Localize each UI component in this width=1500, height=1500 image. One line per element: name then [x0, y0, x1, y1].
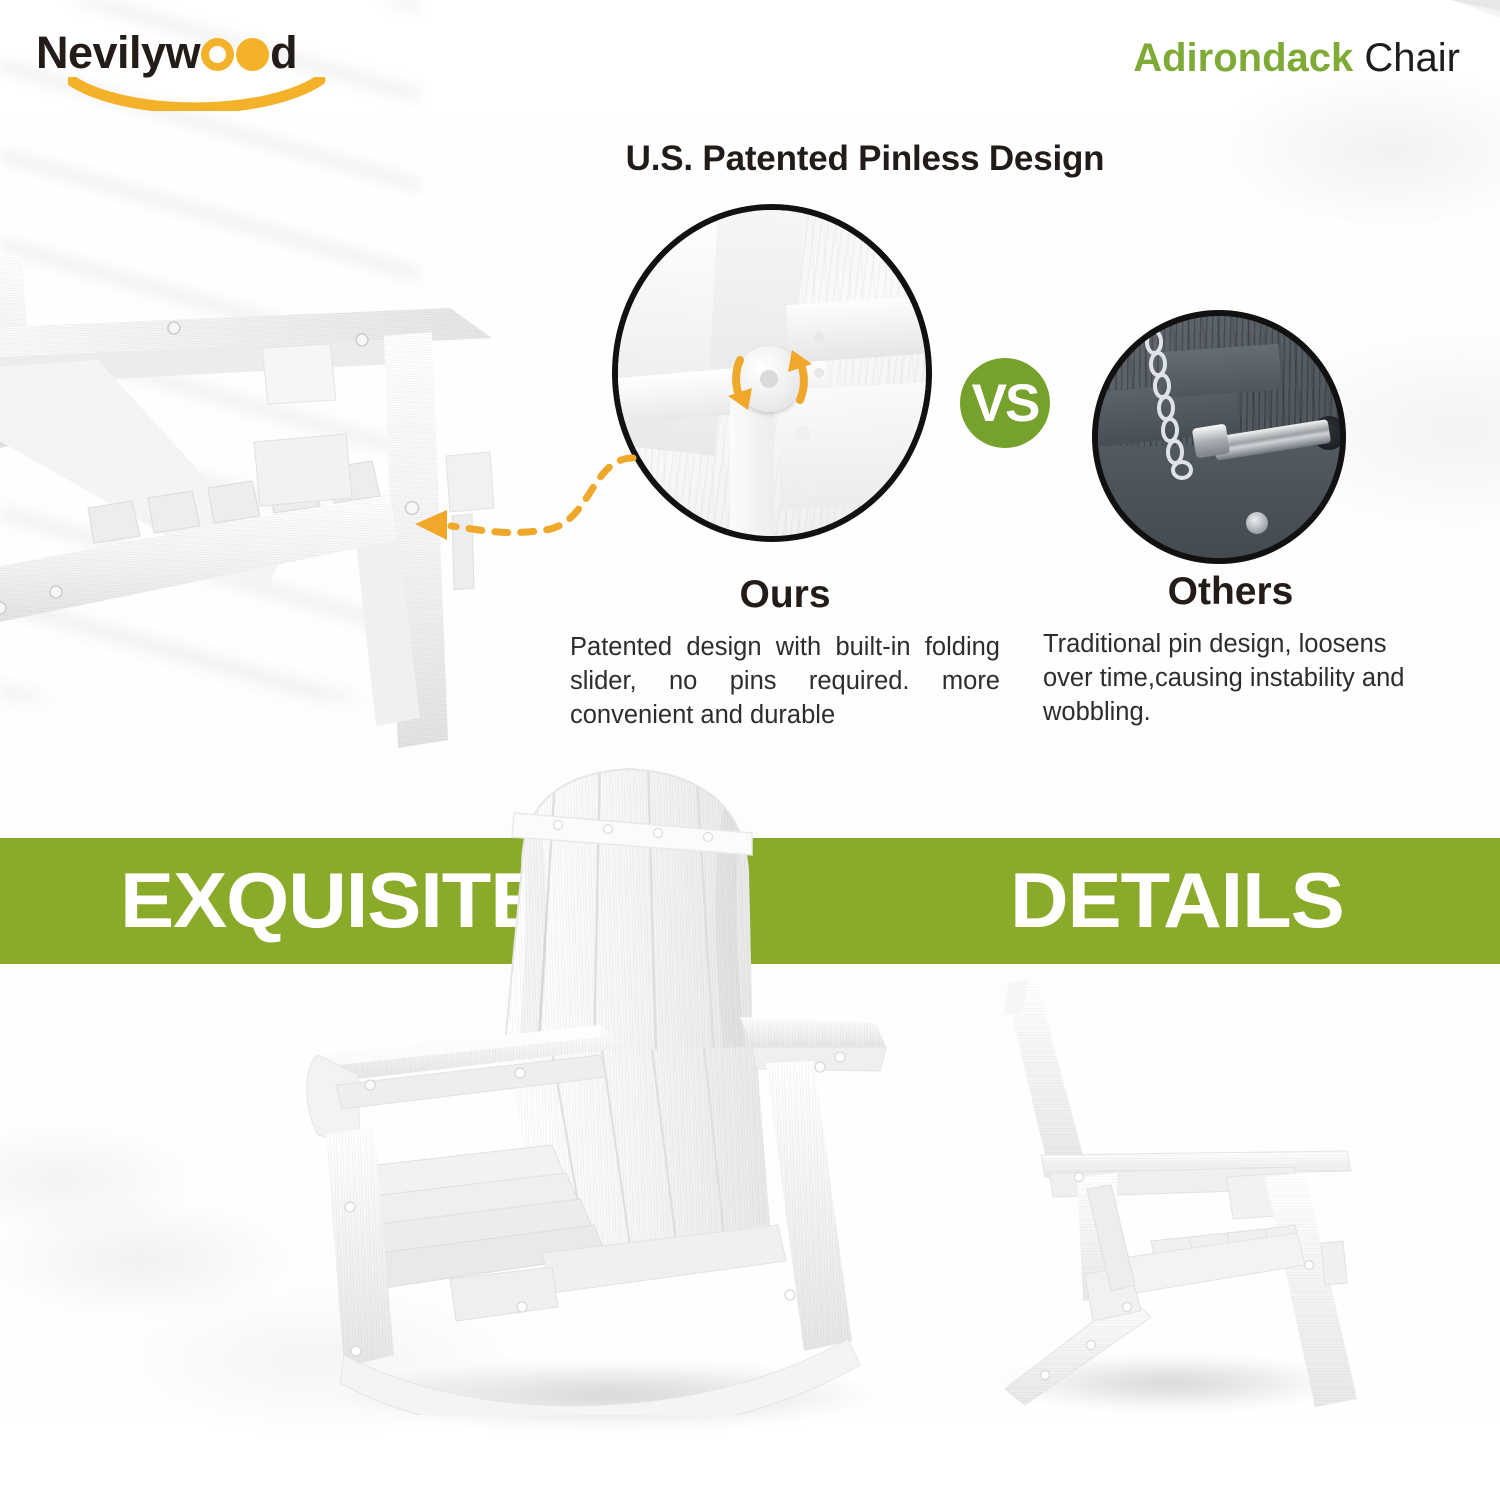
others-closeup-circle	[1092, 310, 1346, 564]
others-pin-head	[1192, 424, 1230, 459]
patent-headline: U.S. Patented Pinless Design	[0, 139, 1500, 179]
ours-bolt-4	[804, 482, 818, 496]
vs-label: VS	[960, 358, 1050, 448]
callout-connector-arrow	[395, 440, 665, 590]
brand-logo-text-before: Nevilyw	[36, 27, 200, 78]
rotation-arrows-icon	[714, 322, 826, 438]
logo-dot-o-icon	[236, 38, 269, 71]
ours-caption-title: Ours	[570, 575, 1000, 616]
brand-logo-text: Nevilywd	[36, 30, 328, 75]
product-title-type-word: Chair	[1364, 36, 1460, 80]
brand-logo-text-after: d	[270, 27, 297, 78]
logo-ring-o-icon	[201, 38, 234, 71]
main-adirondack-chair-illustration	[300, 755, 940, 1415]
band-word-details: DETAILS	[1010, 855, 1344, 946]
ours-bolt-1	[814, 332, 824, 342]
product-title-brand-word: Adirondack	[1133, 36, 1353, 80]
brand-logo: Nevilywd	[36, 30, 328, 111]
logo-smile-arc-icon	[68, 77, 328, 111]
others-screw-icon	[1246, 512, 1268, 534]
ours-caption-block: Ours Patented design with built-in foldi…	[570, 575, 1000, 733]
chain-icon	[1134, 330, 1224, 490]
product-title: Adirondack Chair	[1133, 36, 1460, 81]
ours-caption-body: Patented design with built-in folding sl…	[570, 631, 1000, 733]
others-caption-block: Others Traditional pin design, loosens o…	[1043, 572, 1418, 730]
ours-bolt-2	[814, 368, 824, 378]
ours-bolt-3	[796, 426, 810, 440]
others-caption-body: Traditional pin design, loosens over tim…	[1043, 628, 1418, 730]
side-view-chair-illustration	[965, 965, 1385, 1415]
vs-badge: VS	[960, 358, 1050, 448]
others-caption-title: Others	[1043, 572, 1418, 613]
